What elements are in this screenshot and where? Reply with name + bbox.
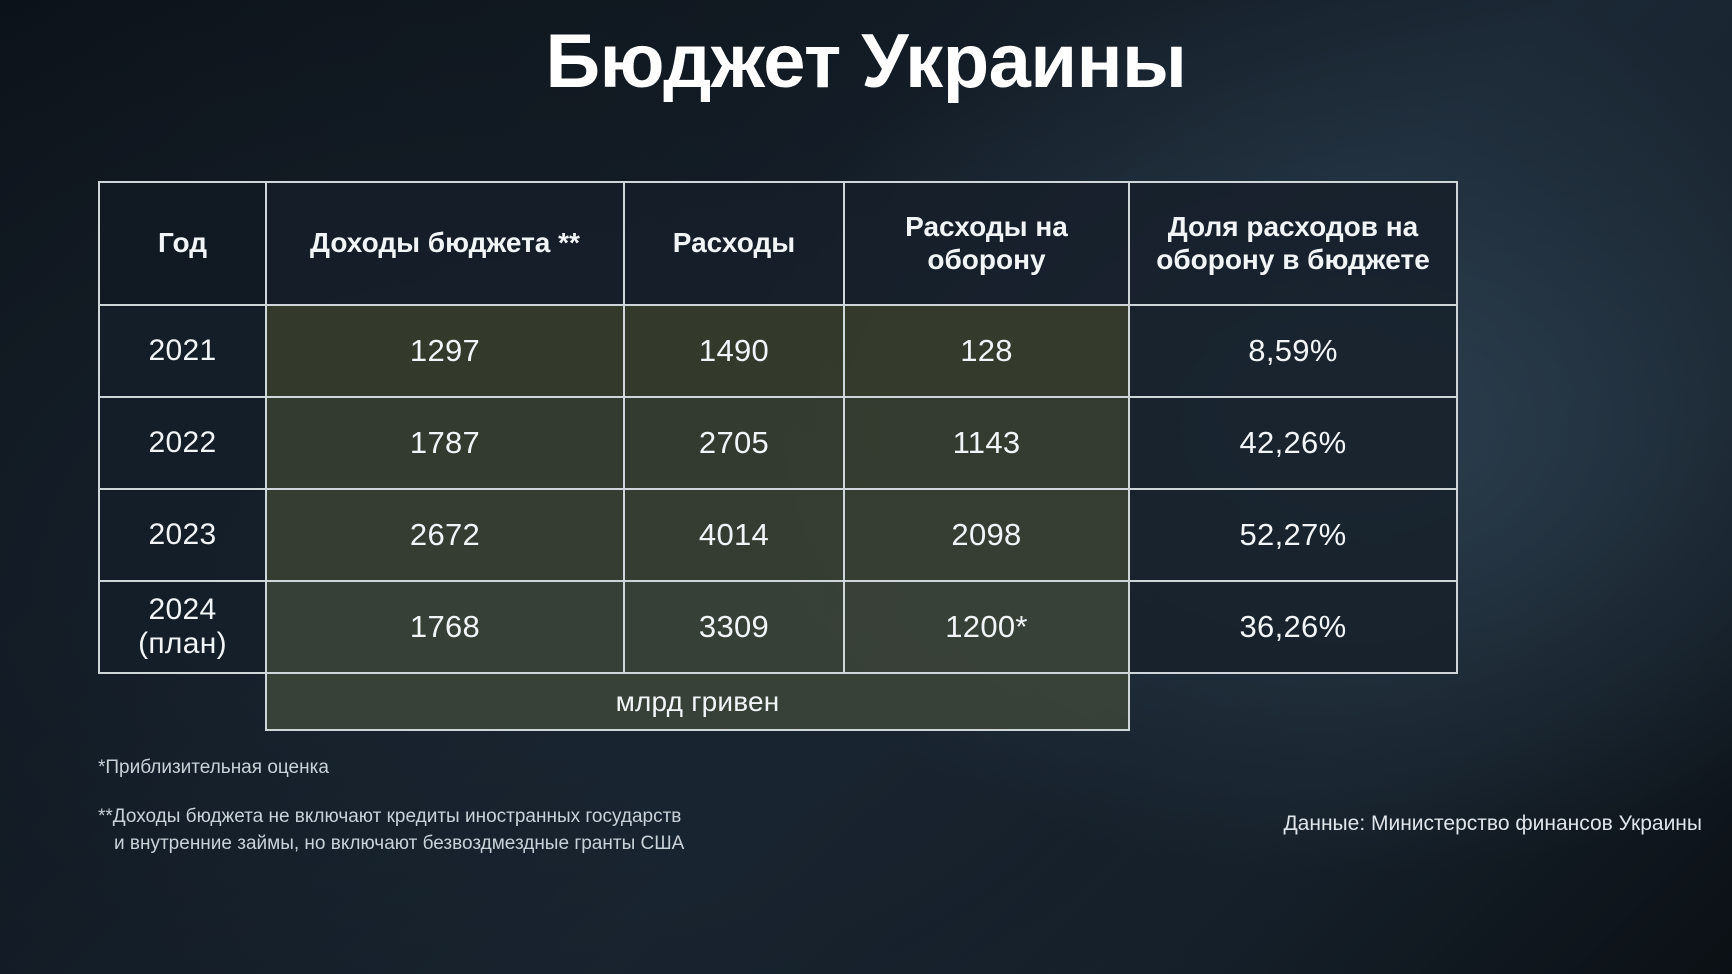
cell-revenue: 1787 bbox=[266, 397, 624, 489]
cell-expenses: 1490 bbox=[624, 305, 844, 397]
cell-year: 2021 bbox=[99, 305, 266, 397]
column-header-revenue: Доходы бюджета ** bbox=[266, 182, 624, 305]
table-row: 2022 1787 2705 1143 42,26% bbox=[99, 397, 1457, 489]
cell-revenue: 2672 bbox=[266, 489, 624, 581]
unit-label: млрд гривен bbox=[266, 673, 1129, 730]
footnote-estimate: *Приблизительная оценка bbox=[98, 755, 684, 782]
cell-defense: 1200* bbox=[844, 581, 1129, 673]
unit-row-spacer-right bbox=[1129, 673, 1457, 730]
cell-defense-share: 52,27% bbox=[1129, 489, 1457, 581]
column-header-expenses: Расходы bbox=[624, 182, 844, 305]
cell-year: 2023 bbox=[99, 489, 266, 581]
year-value: 2024 bbox=[149, 593, 217, 626]
cell-expenses: 3309 bbox=[624, 581, 844, 673]
cell-year: 2022 bbox=[99, 397, 266, 489]
column-header-year: Год bbox=[99, 182, 266, 305]
table-row: 2023 2672 4014 2098 52,27% bbox=[99, 489, 1457, 581]
year-note: (план) bbox=[138, 627, 227, 660]
unit-row-spacer bbox=[99, 673, 266, 730]
year-value: 2021 bbox=[149, 334, 217, 367]
cell-expenses: 2705 bbox=[624, 397, 844, 489]
cell-defense: 2098 bbox=[844, 489, 1129, 581]
cell-defense-share: 8,59% bbox=[1129, 305, 1457, 397]
footnote-revenue-definition: **Доходы бюджета не включают кредиты ино… bbox=[98, 804, 684, 858]
table-header-row: Год Доходы бюджета ** Расходы Расходы на… bbox=[99, 182, 1457, 305]
year-value: 2023 bbox=[149, 518, 217, 551]
table-unit-row: млрд гривен bbox=[99, 673, 1457, 730]
cell-defense-share: 42,26% bbox=[1129, 397, 1457, 489]
cell-defense: 1143 bbox=[844, 397, 1129, 489]
cell-defense: 128 bbox=[844, 305, 1129, 397]
column-header-defense-share: Доля расходов на оборону в бюджете bbox=[1129, 182, 1457, 305]
table-row: 2024 (план) 1768 3309 1200* 36,26% bbox=[99, 581, 1457, 673]
footnote-line-2: и внутренние займы, но включают безвоздм… bbox=[98, 831, 684, 858]
footnote-line-1: **Доходы бюджета не включают кредиты ино… bbox=[98, 806, 681, 827]
cell-revenue: 1768 bbox=[266, 581, 624, 673]
year-value: 2022 bbox=[149, 426, 217, 459]
footnotes: *Приблизительная оценка **Доходы бюджета… bbox=[98, 755, 684, 858]
cell-expenses: 4014 bbox=[624, 489, 844, 581]
cell-defense-share: 36,26% bbox=[1129, 581, 1457, 673]
table-row: 2021 1297 1490 128 8,59% bbox=[99, 305, 1457, 397]
budget-table-container: Год Доходы бюджета ** Расходы Расходы на… bbox=[98, 181, 1456, 731]
cell-year: 2024 (план) bbox=[99, 581, 266, 673]
infographic-canvas: Бюджет Украины Год Доходы бюджета ** Рас… bbox=[0, 0, 1732, 974]
budget-table: Год Доходы бюджета ** Расходы Расходы на… bbox=[98, 181, 1458, 731]
data-source: Данные: Министерство финансов Украины bbox=[1283, 812, 1702, 836]
column-header-defense: Расходы на оборону bbox=[844, 182, 1129, 305]
cell-revenue: 1297 bbox=[266, 305, 624, 397]
page-title: Бюджет Украины bbox=[0, 24, 1732, 100]
